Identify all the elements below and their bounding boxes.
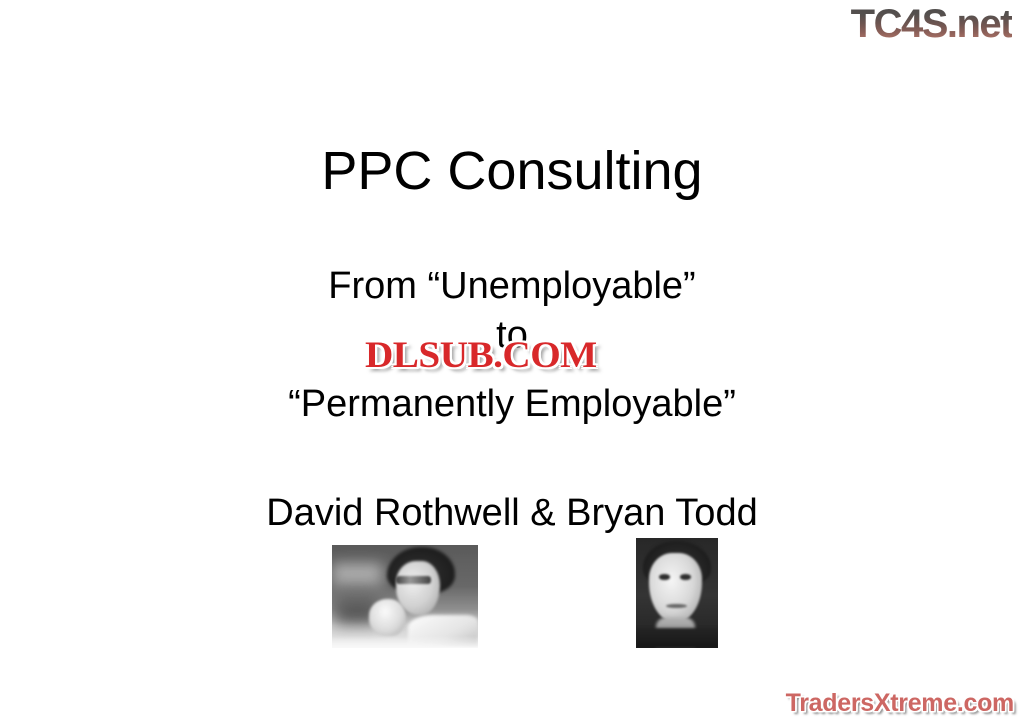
authors-line: David Rothwell & Bryan Todd [0,490,1024,536]
photo-backdrop-blur [332,564,382,591]
photo-david-rothwell [332,545,478,648]
presentation-slide: TC4S.net PPC Consulting From “Unemployab… [0,0,1024,724]
slide-title: PPC Consulting [0,140,1024,202]
photo-hand [369,599,407,636]
photo-eye-left [659,574,670,580]
photo-face [649,553,701,621]
tc4s-watermark: TC4S.net [851,2,1012,46]
tradersxtreme-watermark: TradersXtreme.com [786,688,1014,718]
dlsub-watermark: DLSUB.COM [365,336,597,376]
photo-shoulders [636,628,718,648]
photo-bryan-todd [636,538,718,648]
subtitle-line-3: “Permanently Employable” [0,381,1024,427]
photo-edge-fade [332,636,478,648]
photo-eye-right [680,574,691,580]
photo-glasses [396,576,431,584]
subtitle-line-1: From “Unemployable” [0,263,1024,309]
